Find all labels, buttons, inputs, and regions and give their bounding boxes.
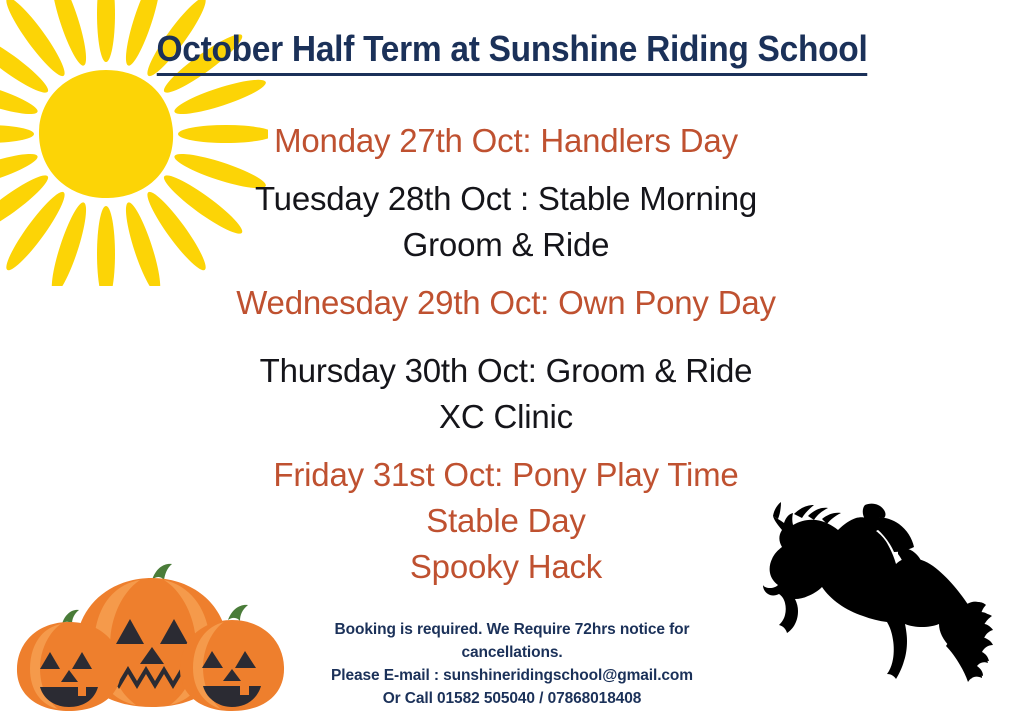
spacer (176, 164, 836, 176)
pumpkin-small-right-stem (228, 605, 248, 621)
booking-notice-line-1: Booking is required. We Require 72hrs no… (262, 618, 762, 641)
spacer (176, 326, 836, 348)
schedule-list: Monday 27th Oct: Handlers Day Tuesday 28… (176, 118, 836, 590)
schedule-item-monday: Monday 27th Oct: Handlers Day (176, 118, 836, 164)
schedule-line: Tuesday 28th Oct : Stable Morning (176, 176, 836, 222)
schedule-item-wednesday: Wednesday 29th Oct: Own Pony Day (176, 280, 836, 326)
schedule-line: Groom & Ride (176, 222, 836, 268)
schedule-line: Stable Day (176, 498, 836, 544)
sun-core (39, 70, 173, 198)
pumpkin-large-stem (152, 564, 172, 580)
schedule-line: Friday 31st Oct: Pony Play Time (176, 452, 836, 498)
spacer (176, 268, 836, 280)
schedule-item-friday: Friday 31st Oct: Pony Play Time Stable D… (176, 452, 836, 590)
schedule-line: Monday 27th Oct: Handlers Day (176, 118, 836, 164)
poster-canvas: October Half Term at Sunshine Riding Sch… (0, 0, 1024, 724)
schedule-line: Wednesday 29th Oct: Own Pony Day (176, 280, 836, 326)
spacer (176, 440, 836, 452)
rider-helmet (863, 504, 886, 519)
page-title-text: October Half Term at Sunshine Riding Sch… (156, 28, 867, 76)
page-title: October Half Term at Sunshine Riding Sch… (36, 28, 988, 76)
booking-email-line: Please E-mail : sunshineridingschool@gma… (262, 664, 762, 687)
schedule-line: Spooky Hack (176, 544, 836, 590)
schedule-line: Thursday 30th Oct: Groom & Ride (176, 348, 836, 394)
booking-notice-line-2: cancellations. (262, 641, 762, 664)
booking-phone-line: Or Call 01582 505040 / 07868018408 (262, 687, 762, 710)
booking-info: Booking is required. We Require 72hrs no… (262, 618, 762, 710)
schedule-item-thursday: Thursday 30th Oct: Groom & Ride XC Clini… (176, 348, 836, 440)
pumpkin-small-left-stem (62, 610, 79, 624)
schedule-item-tuesday: Tuesday 28th Oct : Stable Morning Groom … (176, 176, 836, 268)
schedule-line: XC Clinic (176, 394, 836, 440)
